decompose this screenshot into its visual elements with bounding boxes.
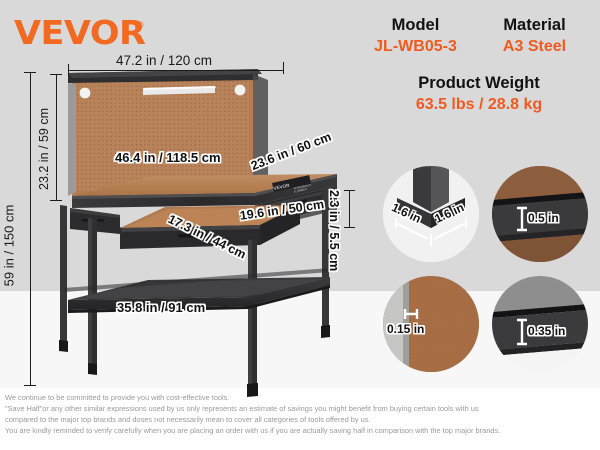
pegboard-knob-right — [235, 85, 246, 96]
detail-circle-tabletop-edge: 0.5 in — [492, 166, 588, 262]
ruler-drawer-height — [349, 190, 350, 228]
ruler-tick-top-h — [24, 72, 36, 73]
ruler-tick-right — [283, 62, 284, 74]
pegboard-knob-left — [80, 88, 91, 99]
legal-line-3: compared to the major top brands and dos… — [5, 414, 597, 425]
legal-line-4: You are kindly reminded to verify carefu… — [5, 425, 597, 436]
detail-circle-shelf-edge: 0.35 in — [492, 276, 588, 372]
dim-drawer-height: 2.3 in / 5.5 cm — [327, 190, 341, 271]
ruler-overall-height — [30, 72, 31, 386]
ruler-tick-dh-top — [344, 190, 355, 191]
ruler-tick-dh-bottom — [344, 227, 355, 228]
ruler-overall-width — [68, 70, 284, 71]
ruler-tick-left — [68, 64, 69, 76]
detail-circle-pegboard-thickness: 0.15 in — [383, 276, 479, 372]
ruler-tick-peg-bottom — [50, 200, 62, 201]
detail-pegboard-value: 0.15 in — [387, 322, 424, 336]
ruler-tick-peg-top — [50, 74, 62, 75]
ruler-pegboard-height — [56, 74, 57, 201]
dim-pegboard-height: 23.2 in / 59 cm — [37, 108, 51, 190]
dim-overall-width: 47.2 in / 120 cm — [116, 53, 212, 68]
dim-pegboard-width: 46.4 in / 118.5 cm — [115, 150, 221, 165]
detail-tabletop-value: 0.5 in — [528, 211, 559, 225]
legal-disclaimer: We continue to be committed to provide y… — [5, 392, 597, 436]
dim-shelf-width: 35.8 in / 91 cm — [117, 300, 205, 315]
detail-circle-leg-profile: 1.6 in 1.6 in — [383, 166, 479, 262]
ruler-tick-bottom-h — [24, 385, 36, 386]
product-spec-image: VEVOR ® Model JL-WB05-3 Material A3 Stee… — [0, 0, 600, 450]
detail-shelf-value: 0.35 in — [528, 324, 565, 338]
legal-line-2: "Save Half"or any other similar expressi… — [5, 403, 597, 414]
legal-line-1: We continue to be committed to provide y… — [5, 392, 597, 403]
dim-overall-height: 59 in / 150 cm — [1, 205, 16, 287]
